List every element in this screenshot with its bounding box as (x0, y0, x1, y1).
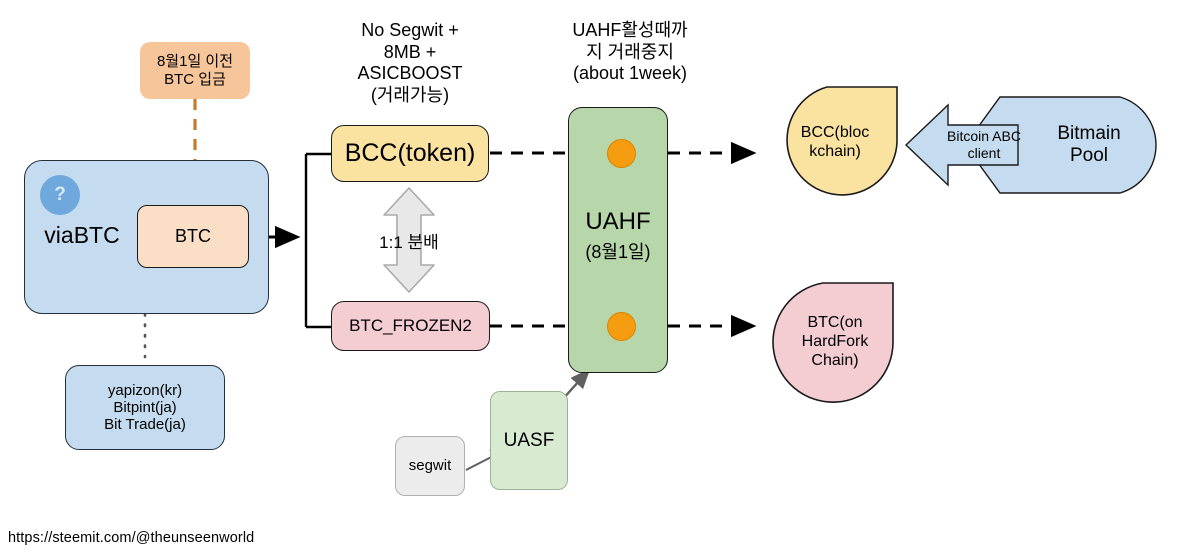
node-bcc-token[interactable]: BCC(token) (331, 125, 489, 182)
caption-col-uahf-line2: 지 거래중지 (545, 42, 715, 64)
node-deposit-line2: BTC 입금 (164, 71, 226, 88)
node-uahf-label: UAHF (8월1일) (568, 208, 668, 264)
source-url[interactable]: https://steemit.com/@theunseenworld (8, 530, 254, 546)
node-bitcoin-abc-client-line2: client (968, 145, 1001, 162)
node-exchanges-line1: yapizon(kr) (108, 382, 182, 399)
node-uahf-line2: (8월1일) (568, 238, 668, 264)
uahf-activation-dot-bottom (607, 312, 636, 341)
node-viabtc-label: viaBTC (26, 222, 138, 249)
caption-col-bcc: No Segwit + 8MB + ASICBOOST (거래가능) (330, 20, 490, 106)
caption-col-uahf-line3: (about 1week) (545, 63, 715, 85)
node-deposit-line1: 8월1일 이전 (157, 53, 233, 70)
node-uasf[interactable]: UASF (490, 391, 568, 490)
node-btc[interactable]: BTC (137, 205, 249, 268)
node-bcc-blockchain-line1: BCC(bloc (801, 124, 869, 143)
node-uahf-line1: UAHF (568, 208, 668, 236)
label-distribution: 1:1 분배 (369, 228, 449, 253)
uahf-activation-dot-top (607, 139, 636, 168)
node-bcc-blockchain-label: BCC(bloc kchain) (780, 112, 890, 174)
node-btc-hardfork-line1: BTC(on (807, 314, 862, 333)
caption-col-bcc-line1: No Segwit + (330, 20, 490, 42)
node-segwit[interactable]: segwit (395, 436, 465, 496)
node-bitmain-pool-line1: Bitmain (1057, 123, 1120, 145)
node-bitmain-pool-line2: Pool (1070, 145, 1108, 167)
node-exchanges[interactable]: yapizon(kr) Bitpint(ja) Bit Trade(ja) (65, 365, 225, 450)
node-bitcoin-abc-client-line1: Bitcoin ABC (947, 128, 1021, 145)
node-btc-hardfork-label: BTC(on HardFork Chain) (780, 305, 890, 380)
node-deposit[interactable]: 8월1일 이전 BTC 입금 (140, 42, 250, 99)
node-exchanges-line3: Bit Trade(ja) (104, 416, 186, 433)
node-bcc-blockchain-line2: kchain) (809, 143, 861, 162)
diagram-canvas: No Segwit + 8MB + ASICBOOST (거래가능) UAHF활… (0, 0, 1181, 558)
caption-col-bcc-line4: (거래가능) (330, 85, 490, 107)
caption-col-bcc-line3: ASICBOOST (330, 63, 490, 85)
node-exchanges-line2: Bitpint(ja) (113, 399, 176, 416)
caption-col-uahf: UAHF활성때까 지 거래중지 (about 1week) (545, 20, 715, 85)
question-mark-icon: ? (40, 175, 80, 215)
node-btc-frozen2[interactable]: BTC_FROZEN2 (331, 301, 490, 351)
node-bitmain-pool-label: Bitmain Pool (1035, 118, 1143, 172)
caption-col-uahf-line1: UAHF활성때까 (545, 20, 715, 42)
question-mark-glyph: ? (54, 184, 66, 206)
node-btc-hardfork-line2: HardFork (802, 333, 869, 352)
node-btc-hardfork-line3: Chain) (811, 352, 858, 371)
node-bitcoin-abc-client-label: Bitcoin ABC client (936, 124, 1032, 166)
caption-col-bcc-line2: 8MB + (330, 42, 490, 64)
